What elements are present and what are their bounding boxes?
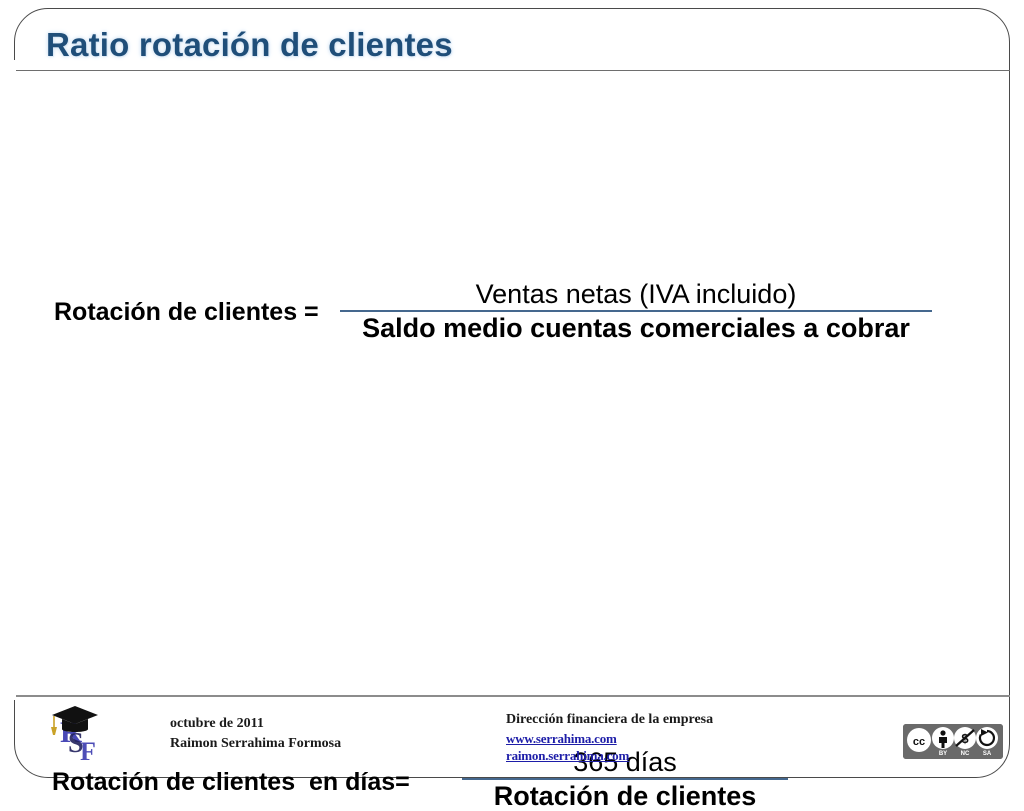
- page-title: Ratio rotación de clientes: [46, 26, 453, 64]
- svg-text:cc: cc: [913, 736, 925, 748]
- creative-commons-badge-icon: cc BY $ NC SA: [903, 724, 1003, 759]
- title-divider: [14, 70, 1010, 71]
- footer-subject-links: Dirección financiera de la empresa www.s…: [506, 711, 713, 765]
- footer-author: Raimon Serrahima Formosa: [170, 734, 341, 754]
- svg-text:BY: BY: [939, 751, 947, 757]
- footer-divider: [14, 695, 1010, 697]
- fraction-denominator: Saldo medio cuentas comerciales a cobrar: [340, 313, 932, 343]
- fraction-bar: [340, 310, 932, 312]
- slide-canvas: Ratio rotación de clientes Rotación de c…: [0, 0, 1024, 788]
- formula-rotacion-clientes: Rotación de clientes = Ventas netas (IVA…: [0, 140, 1024, 230]
- footer-date: octubre de 2011: [170, 714, 341, 734]
- fraction-numerator: Ventas netas (IVA incluido): [340, 280, 932, 309]
- fraction: Ventas netas (IVA incluido) Saldo medio …: [340, 280, 932, 343]
- svg-text:NC: NC: [961, 751, 970, 757]
- footer-link-website[interactable]: www.serrahima.com: [506, 730, 713, 748]
- svg-text:SA: SA: [983, 751, 992, 757]
- formula-rotacion-clientes-dias: Rotación de clientes en días= 365 días R…: [0, 375, 1024, 465]
- footer-link-email[interactable]: raimon.serrahima.com: [506, 747, 713, 765]
- title-band: Ratio rotación de clientes: [0, 8, 1024, 70]
- fraction-denominator: Rotación de clientes: [462, 781, 788, 811]
- footer-date-author: octubre de 2011 Raimon Serrahima Formosa: [170, 714, 341, 755]
- formula-label: Rotación de clientes =: [54, 300, 319, 325]
- formula-label: Rotación de clientes en días=: [52, 770, 410, 795]
- fraction-bar: [462, 778, 788, 780]
- footer-subject: Dirección financiera de la empresa: [506, 711, 713, 730]
- svg-text:F: F: [80, 737, 96, 764]
- rsf-logo-icon: R S F: [44, 702, 106, 764]
- frame-edge-mask: [0, 60, 16, 700]
